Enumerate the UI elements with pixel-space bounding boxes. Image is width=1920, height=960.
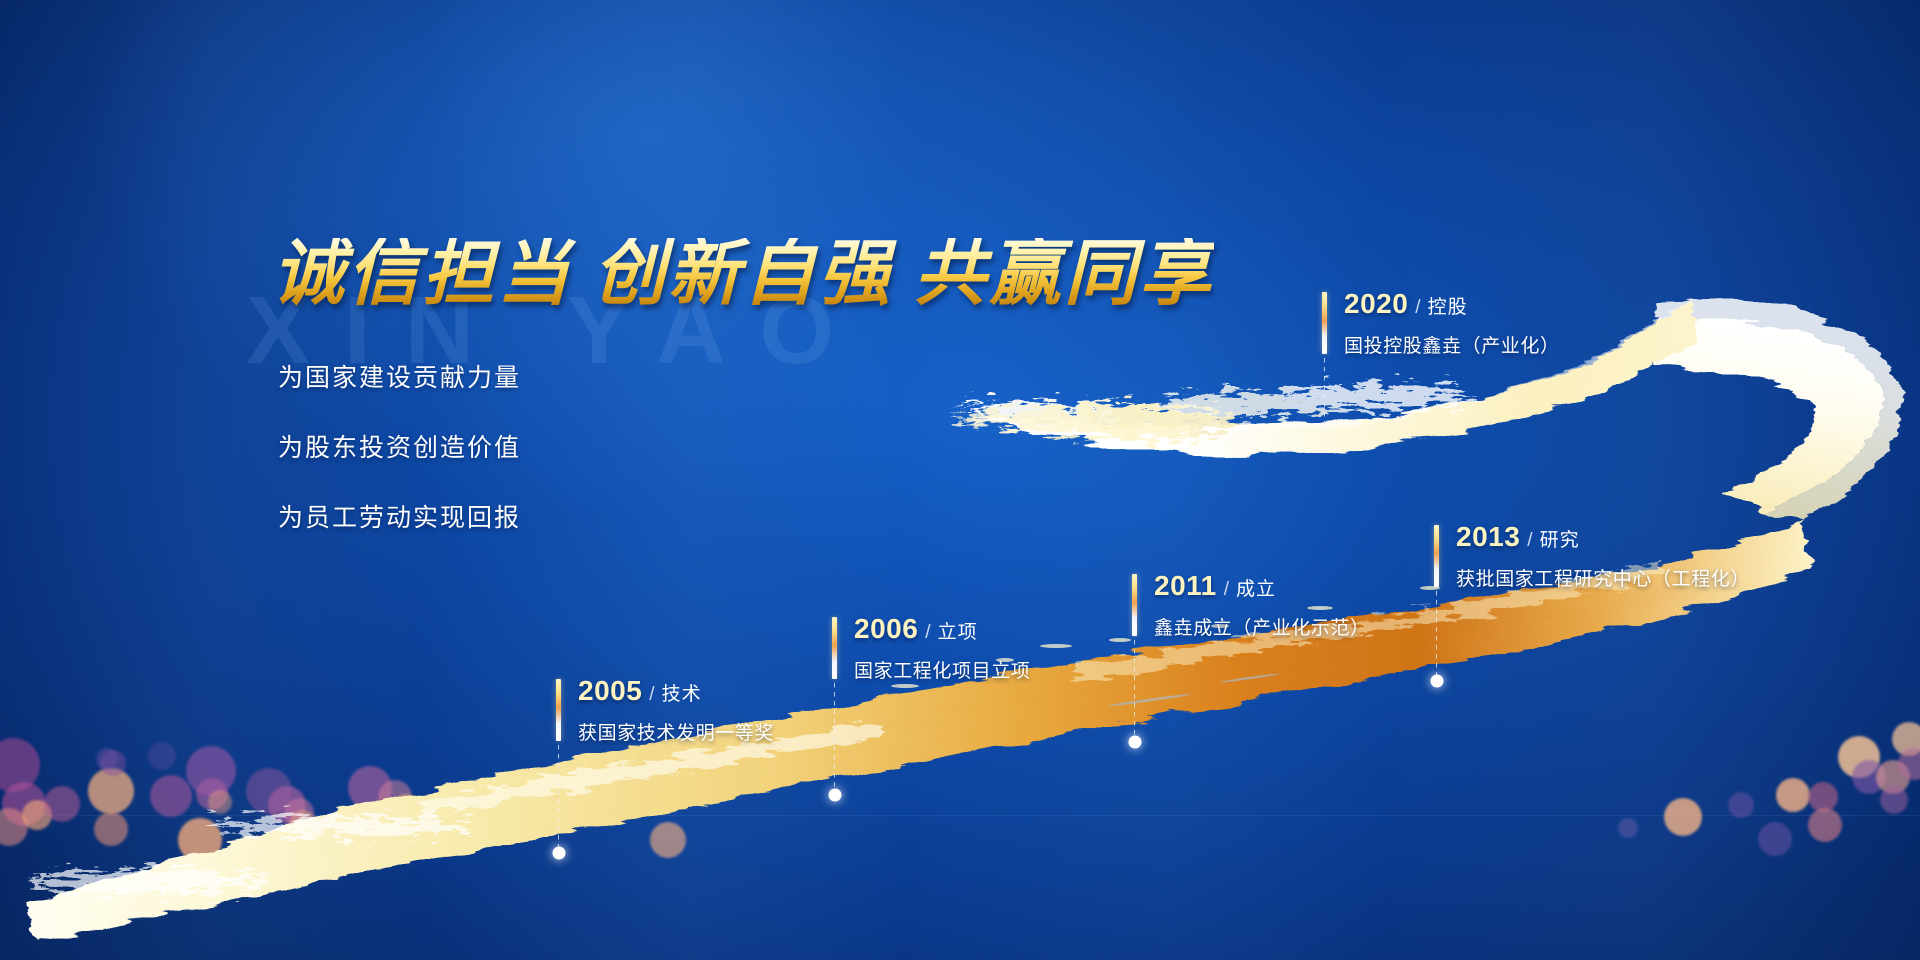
accent-bar-icon (832, 617, 837, 679)
bokeh-circle (148, 742, 176, 770)
timeline-dot (1129, 736, 1142, 749)
bokeh-circle (1664, 798, 1702, 836)
bokeh-circle (348, 766, 392, 810)
bokeh-circle (290, 810, 316, 836)
page-title: 诚信担当 创新自强 共赢同享 (272, 238, 1214, 310)
bokeh-circle (1876, 760, 1910, 794)
bokeh-circle (392, 794, 420, 822)
milestone-year: 2006 (854, 613, 918, 645)
bokeh-circle (268, 786, 306, 824)
milestone-desc: 国投控股鑫垚（产业化） (1344, 331, 1560, 358)
bokeh-circle (150, 775, 192, 817)
bokeh-circle (1808, 782, 1838, 812)
bokeh-circle (1808, 808, 1842, 842)
milestone-separator: / (1224, 579, 1229, 601)
milestone-year-row: 2006 / 立项 (854, 613, 1030, 645)
accent-bar-icon (1434, 525, 1439, 587)
milestone-year: 2013 (1456, 521, 1520, 553)
bokeh-circle (96, 748, 118, 770)
milestone-separator: / (925, 622, 930, 644)
bokeh-circle (1618, 818, 1638, 838)
bokeh-circle (1892, 722, 1920, 756)
milestone-desc: 获国家技术发明一等奖 (578, 718, 774, 745)
bokeh-circle (500, 774, 534, 808)
milestone-year: 2020 (1344, 288, 1408, 320)
bokeh-circle (208, 790, 232, 814)
accent-bar-icon (1322, 292, 1327, 354)
milestone-desc: 获批国家工程研究中心（工程化） (1456, 564, 1750, 591)
bokeh-circle (196, 778, 228, 810)
connector-line (1134, 640, 1135, 738)
bokeh-circle (178, 818, 222, 862)
bokeh-circle (246, 768, 292, 814)
bokeh-circle (2, 782, 46, 826)
connector-line (1436, 591, 1437, 677)
bokeh-circle (88, 768, 134, 814)
milestone-tag: 技术 (662, 679, 702, 706)
milestone-tag: 立项 (938, 617, 978, 644)
bokeh-circle (0, 808, 28, 846)
milestone-text: 2011 / 成立 鑫垚成立（产业化示范） (1154, 570, 1370, 640)
milestone-year: 2011 (1154, 570, 1217, 602)
bokeh-circle (284, 798, 314, 828)
connector-line (834, 683, 835, 791)
bokeh-circle (1776, 778, 1810, 812)
bokeh-circle (1880, 786, 1908, 814)
bokeh-circle (650, 822, 686, 858)
bokeh-circle (1838, 736, 1880, 778)
slogan-line: 为员工劳动实现回报 (278, 498, 521, 534)
slogan-line: 为国家建设贡献力量 (278, 358, 521, 394)
milestone-year-row: 2005 / 技术 (578, 675, 774, 707)
milestone-year-row: 2011 / 成立 (1154, 570, 1370, 602)
bokeh-circle (44, 786, 80, 822)
bokeh-circle (186, 746, 236, 796)
slogan-list: 为国家建设贡献力量 为股东投资创造价值 为员工劳动实现回报 (278, 358, 521, 568)
bokeh-circle (378, 780, 412, 814)
milestone-tag: 控股 (1428, 292, 1468, 319)
bokeh-circle (0, 738, 40, 792)
accent-bar-icon (556, 679, 561, 741)
milestone-year: 2005 (578, 675, 642, 707)
background-seam (0, 815, 1920, 816)
milestone-text: 2020 / 控股 国投控股鑫垚（产业化） (1344, 288, 1560, 358)
bokeh-circle (436, 798, 484, 846)
timeline-dot (553, 847, 566, 860)
milestone-text: 2006 / 立项 国家工程化项目立项 (854, 613, 1030, 683)
bokeh-circle (1758, 822, 1792, 856)
timeline-dot (1431, 675, 1444, 688)
milestone-text: 2005 / 技术 获国家技术发明一等奖 (578, 675, 774, 745)
slogan-line: 为股东投资创造价值 (278, 428, 521, 464)
bokeh-circle (94, 812, 128, 846)
accent-bar-icon (1132, 574, 1137, 636)
timeline-dot (829, 789, 842, 802)
connector-line (558, 745, 559, 849)
milestone-year-row: 2013 / 研究 (1456, 521, 1750, 553)
milestone-text: 2013 / 研究 获批国家工程研究中心（工程化） (1456, 521, 1750, 591)
milestone-separator: / (1527, 530, 1532, 552)
hero-banner: XIN YAO 诚信担当 创新自强 共赢同享 为国家建设贡献力量 为股东投资创造… (0, 0, 1920, 960)
milestone-tag: 成立 (1236, 574, 1276, 601)
milestone-year-row: 2020 / 控股 (1344, 288, 1560, 320)
bokeh-circle (1898, 748, 1920, 780)
milestone-desc: 鑫垚成立（产业化示范） (1154, 613, 1370, 640)
milestone-tag: 研究 (1540, 525, 1580, 552)
milestone-separator: / (1415, 297, 1420, 319)
milestone-separator: / (649, 684, 654, 706)
milestone-desc: 国家工程化项目立项 (854, 656, 1030, 683)
bokeh-circle (1852, 760, 1886, 794)
connector-line (1324, 358, 1325, 454)
bokeh-circle (100, 750, 126, 776)
